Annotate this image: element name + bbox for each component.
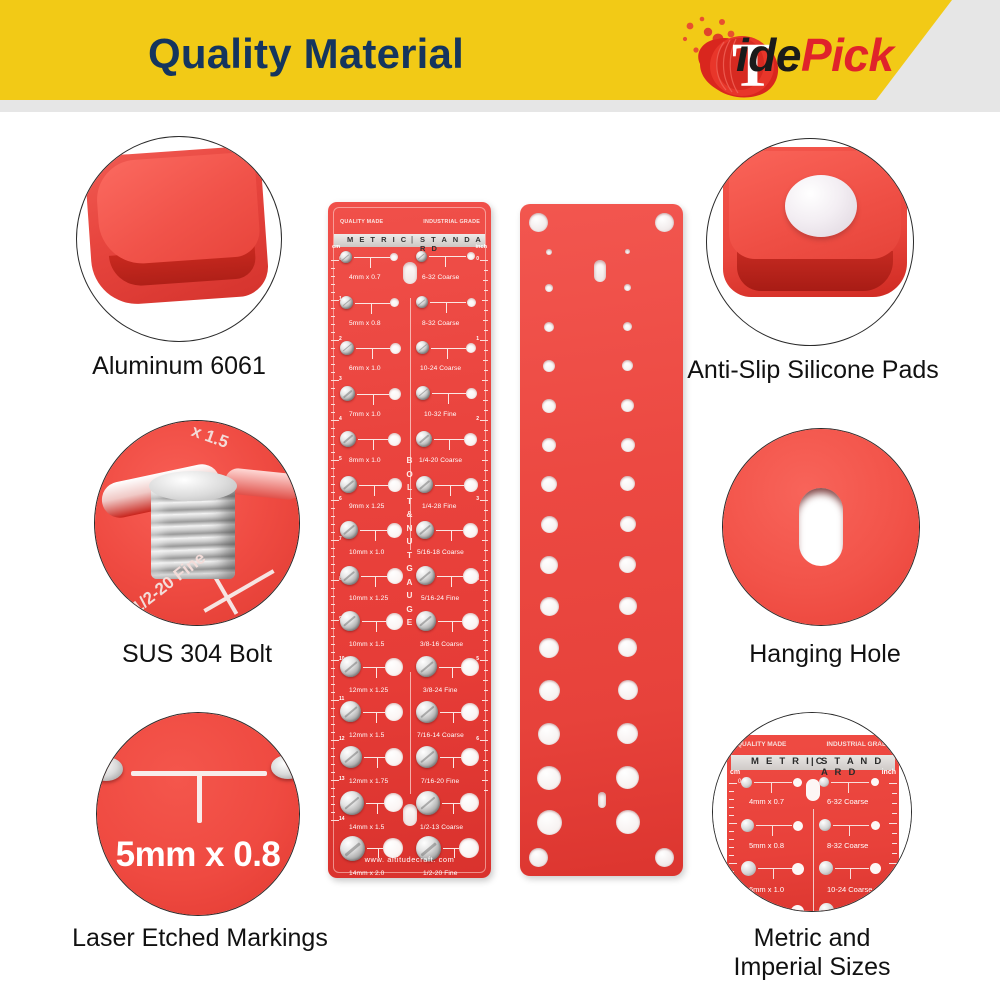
bolt-hole: [416, 431, 432, 447]
backplate-hanging-slot: [594, 260, 606, 282]
gauge-label-metric: 7mm x 1.0: [349, 411, 381, 418]
inset-nut-hole: [793, 821, 803, 831]
backplate-hole: [541, 476, 557, 492]
feature-caption-metric-imperial: Metric and Imperial Sizes: [680, 924, 944, 982]
inset-metric-row: 4mm x 0.7: [741, 775, 811, 817]
gauge-label-metric: 12mm x 1.75: [349, 778, 388, 785]
gauge-label-metric: 4mm x 0.7: [349, 274, 381, 281]
bolt-hole: [340, 701, 361, 722]
gauge-row-standard: 1/4-20 Coarse: [416, 430, 482, 475]
bolt-hole: [340, 431, 356, 447]
logo-pick-text: Pick: [801, 29, 894, 81]
plate-corner-quality-made: QUALITY MADE: [340, 219, 383, 225]
inset-metric-row: 6mm x 1.0: [741, 859, 811, 901]
nut-hole: [389, 388, 401, 400]
bolt-hole: [416, 611, 436, 631]
nut-hole: [384, 793, 403, 812]
gauge-row-metric: 4mm x 0.7: [340, 250, 406, 295]
bolt-hole: [416, 341, 429, 354]
backplate-hole: [616, 766, 639, 789]
gauge-label-standard: 6-32 Coarse: [422, 274, 459, 281]
backplate-hole: [545, 284, 553, 292]
feature-metric-imperial-image: QUALITY MADE INDUSTRIAL GRADE M E T R I …: [712, 712, 912, 912]
feature-caption-silicone-pads: Anti-Slip Silicone Pads: [668, 356, 958, 385]
gauge-label-standard: 1/2-13 Coarse: [420, 824, 463, 831]
nut-hole: [463, 568, 479, 584]
inset-ruler-cm: cm 0: [729, 771, 741, 912]
gauge-row-standard: 10-24 Coarse: [416, 340, 482, 385]
backplate-hole: [540, 556, 558, 574]
vchar: &: [407, 510, 413, 519]
gauge-row-metric: 10mm x 1.5: [340, 610, 406, 655]
vchar: T: [407, 497, 412, 506]
gauge-row-standard: 5/16-18 Coarse: [416, 520, 482, 565]
gauge-label-standard: 7/16-14 Coarse: [417, 732, 464, 739]
vchar: E: [407, 618, 412, 627]
gauge-label-metric: 12mm x 1.5: [349, 732, 384, 739]
nut-hole: [462, 613, 479, 630]
nut-hole: [387, 523, 402, 538]
bolt-hole: [416, 386, 430, 400]
gauge-label-standard: 5/16-24 Fine: [421, 595, 459, 602]
gauge-row-standard: 6-32 Coarse: [416, 250, 482, 295]
bolt-hole: [340, 521, 358, 539]
logo-wordmark: idePick: [736, 32, 894, 78]
backplate-silicone-pad: [529, 213, 548, 232]
inset-standard-row: 6-32 Coarse: [819, 775, 889, 817]
backplate-hole: [621, 399, 634, 412]
inset-bolt-hole: [741, 861, 756, 876]
bolt-hole: [416, 566, 435, 585]
backplate-hanging-slot-bottom: [598, 792, 606, 808]
backplate-hole: [620, 476, 635, 491]
threaded-bolt-head: [149, 471, 237, 501]
logo-ide-text: ide: [736, 29, 801, 81]
backplate-hole: [539, 680, 560, 701]
backplate-hole: [542, 399, 556, 413]
feature-hanging-hole-image: [722, 428, 920, 626]
backplate-hole: [537, 766, 561, 790]
nut-hole: [464, 478, 478, 492]
nut-hole: [466, 343, 476, 353]
gauge-label-standard: 1/4-28 Fine: [422, 503, 456, 510]
bolt-hole: [416, 656, 437, 677]
etched-tee-vertical: [197, 771, 202, 823]
inset-standard-row-partial: [819, 901, 889, 912]
feature-sus-bolt-image: x 1.5 1/2-20 Fine: [94, 420, 300, 626]
inset-bolt-hole: [741, 777, 752, 788]
gauge-row-metric: 12mm x 1.25: [340, 655, 406, 700]
backplate-hole: [619, 597, 637, 615]
feature-caption-hanging-hole: Hanging Hole: [700, 640, 950, 669]
gauge-row-standard: 7/16-14 Coarse: [416, 700, 482, 745]
feature-laser-etched-image: 5mm x 0.8: [96, 712, 300, 916]
inset-metric-label: 6mm x 1.0: [749, 885, 784, 894]
nut-hole: [467, 252, 475, 260]
backplate-hole: [621, 438, 635, 452]
gauge-row-metric: 9mm x 1.25: [340, 475, 406, 520]
gauge-label-standard: 3/8-24 Fine: [423, 687, 457, 694]
nut-hole: [466, 388, 477, 399]
nut-hole: [387, 568, 403, 584]
gauge-label-standard: 1/4-20 Coarse: [419, 457, 462, 464]
backplate-silicone-pad: [655, 848, 674, 867]
hanging-hole-slot: [799, 488, 843, 566]
gauge-row-metric: 12mm x 1.5: [340, 700, 406, 745]
brand-logo: T idePick: [678, 12, 984, 98]
plate-header-bar: M E T R I C | S T A N D A R D: [334, 234, 485, 247]
gauge-row-metric: 10mm x 1.25: [340, 565, 406, 610]
silicone-pad-disc: [785, 175, 857, 237]
gauge-label-standard: 10-24 Coarse: [420, 365, 461, 372]
gauge-row-metric: 7mm x 1.0: [340, 385, 406, 430]
inset-standard-row: 8-32 Coarse: [819, 817, 889, 859]
nut-hole: [390, 298, 399, 307]
vchar: B: [407, 456, 413, 465]
page-title: Quality Material: [148, 30, 464, 78]
inset-bolt-hole: [741, 819, 754, 832]
gauge-label-metric: 5mm x 0.8: [349, 320, 381, 327]
feature-silicone-pads-image: [706, 138, 914, 346]
bolt-hole: [340, 746, 362, 768]
inset-center-divider: [813, 809, 814, 912]
silicone-pad-block-shape: [723, 147, 907, 297]
bolt-hole: [340, 656, 361, 677]
aluminum-top-face: [94, 151, 261, 266]
vchar: G: [406, 564, 412, 573]
backplate-hole: [622, 360, 633, 371]
gauge-row-metric: 8mm x 1.0: [340, 430, 406, 475]
bolt-hole: [416, 701, 438, 723]
gauge-label-metric: 12mm x 1.25: [349, 687, 388, 694]
feature-caption-laser-etched: Laser Etched Markings: [40, 924, 360, 953]
gauge-row-standard: 3/8-24 Fine: [416, 655, 482, 700]
inset-nut-hole: [792, 863, 804, 875]
bolt-hole: [340, 251, 352, 263]
gauge-label-metric: 9mm x 1.25: [349, 503, 384, 510]
backplate-hole: [624, 284, 631, 291]
bolt-hole: [416, 521, 434, 539]
product-infographic: Quality Material T: [0, 0, 1000, 1000]
gauge-label-metric: 6mm x 1.0: [349, 365, 381, 372]
nut-hole: [385, 748, 403, 766]
inset-nut-hole: [870, 863, 881, 874]
plate-header-divider: |: [411, 235, 413, 244]
gauge-row-metric: 5mm x 0.8: [340, 295, 406, 340]
plate-corner-industrial-grade: INDUSTRIAL GRADE: [423, 219, 480, 225]
inset-metric-label: 4mm x 0.7: [749, 797, 784, 806]
bolt-hole: [340, 566, 359, 585]
plate-vertical-text: B O L T & N U T G A U G E: [405, 454, 415, 630]
gauge-row-metric: 10mm x 1.0: [340, 520, 406, 565]
plate-center-divider-bottom: [410, 672, 411, 794]
gauge-row-standard: 7/16-20 Fine: [416, 745, 482, 790]
inset-bolt-hole: [819, 777, 829, 787]
bolt-hole: [340, 296, 353, 309]
vchar: L: [407, 483, 412, 492]
backplate-hole: [619, 556, 636, 573]
bolt-hole: [340, 791, 364, 815]
bolt-hole: [340, 476, 357, 493]
inset-bolt-hole: [819, 903, 834, 912]
gauge-label-metric: 10mm x 1.5: [349, 641, 384, 648]
backplate-hole: [543, 360, 555, 372]
backplate-hole: [620, 516, 636, 532]
backplate-hole: [618, 680, 638, 700]
header-banner: Quality Material T: [0, 0, 1000, 112]
vchar: O: [406, 470, 412, 479]
inset-gauge-plate: QUALITY MADE INDUSTRIAL GRADE M E T R I …: [727, 735, 899, 912]
inset-header-divider: |: [811, 756, 816, 767]
vchar: U: [407, 537, 413, 546]
vchar: A: [407, 578, 413, 587]
nut-hole: [390, 343, 401, 354]
backplate-hole: [541, 516, 558, 533]
vchar: N: [407, 524, 413, 533]
backplate-silicone-pad: [655, 213, 674, 232]
gauge-plate-back: [520, 204, 683, 876]
gauge-label-standard: 8-32 Coarse: [422, 320, 459, 327]
nut-hole: [461, 703, 479, 721]
gauge-label-metric: 10mm x 1.0: [349, 549, 384, 556]
inset-nut-hole: [791, 905, 804, 912]
bolt-hole: [416, 296, 428, 308]
bolt-hole: [340, 386, 355, 401]
gauge-row-metric: 14mm x 1.5: [340, 790, 406, 835]
nut-hole: [388, 478, 402, 492]
gauge-label-metric: 8mm x 1.0: [349, 457, 381, 464]
inset-standard-row: 10-24 Coarse: [819, 859, 889, 901]
nut-hole: [461, 748, 479, 766]
backplate-hole: [537, 810, 562, 835]
backplate-hole: [625, 249, 630, 254]
inset-unit-cm: cm: [730, 769, 740, 776]
backplate-hole: [546, 249, 552, 255]
backplate-hole: [539, 638, 559, 658]
inset-standard-label: 8-32 Coarse: [827, 841, 868, 850]
inset-bolt-hole: [819, 819, 831, 831]
nut-hole: [463, 523, 478, 538]
bolt-hole: [416, 251, 427, 262]
inset-standard-label: 10-24 Coarse: [827, 885, 872, 894]
bolt-hole: [416, 746, 438, 768]
vchar: G: [406, 605, 412, 614]
gauge-label-metric: 14mm x 1.5: [349, 824, 384, 831]
inset-metric-row-partial: [741, 901, 811, 912]
bolt-hole: [340, 611, 360, 631]
bolt-hole: [416, 476, 433, 493]
backplate-hole: [618, 638, 637, 657]
nut-hole: [386, 613, 403, 630]
gauge-label-standard: 5/16-18 Coarse: [417, 549, 464, 556]
gauge-label-standard: 10-32 Fine: [424, 411, 457, 418]
gauge-row-standard: 3/8-16 Coarse: [416, 610, 482, 655]
feature-caption-aluminum: Aluminum 6061: [54, 352, 304, 381]
inset-bolt-hole: [819, 861, 833, 875]
inset-nut-hole: [871, 821, 880, 830]
backplate-silicone-pad: [529, 848, 548, 867]
gauge-row-standard: 8-32 Coarse: [416, 295, 482, 340]
feature-caption-sus-bolt: SUS 304 Bolt: [72, 640, 322, 669]
bolt-hole: [416, 791, 440, 815]
backplate-hole: [616, 810, 640, 834]
backplate-hole: [544, 322, 554, 332]
nut-hole: [464, 433, 477, 446]
vchar: U: [407, 591, 413, 600]
gauge-plate-front: QUALITY MADE INDUSTRIAL GRADE M E T R I …: [328, 202, 491, 878]
gauge-row-metric: 12mm x 1.75: [340, 745, 406, 790]
inset-header-bar: M E T R I C | S T A N D A R D: [731, 755, 895, 770]
inset-corner-quality-made: QUALITY MADE: [737, 741, 786, 748]
plate-website-url: www. altitudecraft. com: [328, 855, 491, 864]
gauge-row-standard: 5/16-24 Fine: [416, 565, 482, 610]
plate-header-metric: M E T R I C: [347, 235, 408, 244]
nut-hole: [461, 658, 479, 676]
backplate-hole: [623, 322, 632, 331]
gauge-label-metric: 10mm x 1.25: [349, 595, 388, 602]
nut-hole: [460, 793, 479, 812]
inset-nut-hole: [871, 778, 879, 786]
gauge-label-standard: 3/8-16 Coarse: [420, 641, 463, 648]
backplate-hole: [538, 723, 560, 745]
inset-metric-row: 5mm x 0.8: [741, 817, 811, 859]
vchar: T: [407, 551, 412, 560]
nut-hole: [385, 658, 403, 676]
feature-aluminum-image: [76, 136, 282, 342]
aluminum-block-shape: [84, 145, 270, 307]
gauge-row-standard: 1/2-13 Coarse: [416, 790, 482, 835]
nut-hole: [388, 433, 401, 446]
gauge-row-metric: 6mm x 1.0: [340, 340, 406, 385]
gauge-row-standard: 10-32 Fine: [416, 385, 482, 430]
backplate-hole: [540, 597, 559, 616]
backplate-hole: [617, 723, 638, 744]
inset-corner-industrial-grade: INDUSTRIAL GRADE: [826, 741, 891, 748]
nut-hole: [390, 253, 398, 261]
etched-hole-right: [271, 755, 300, 779]
gauge-label-standard: 7/16-20 Fine: [421, 778, 459, 785]
gauge-label-standard: 1/2-20 Fine: [423, 870, 457, 877]
plate-unit-cm: cm: [332, 244, 340, 250]
etched-size-label: 5mm x 0.8: [97, 835, 299, 875]
inset-standard-label: 6-32 Coarse: [827, 797, 868, 806]
inset-nut-hole: [793, 778, 802, 787]
backplate-hole: [542, 438, 556, 452]
gauge-row-standard: 1/4-28 Fine: [416, 475, 482, 520]
inset-metric-label: 5mm x 0.8: [749, 841, 784, 850]
bolt-hole: [340, 341, 354, 355]
gauge-label-metric: 14mm x 2.0: [349, 870, 384, 877]
nut-hole: [467, 298, 476, 307]
nut-hole: [385, 703, 403, 721]
